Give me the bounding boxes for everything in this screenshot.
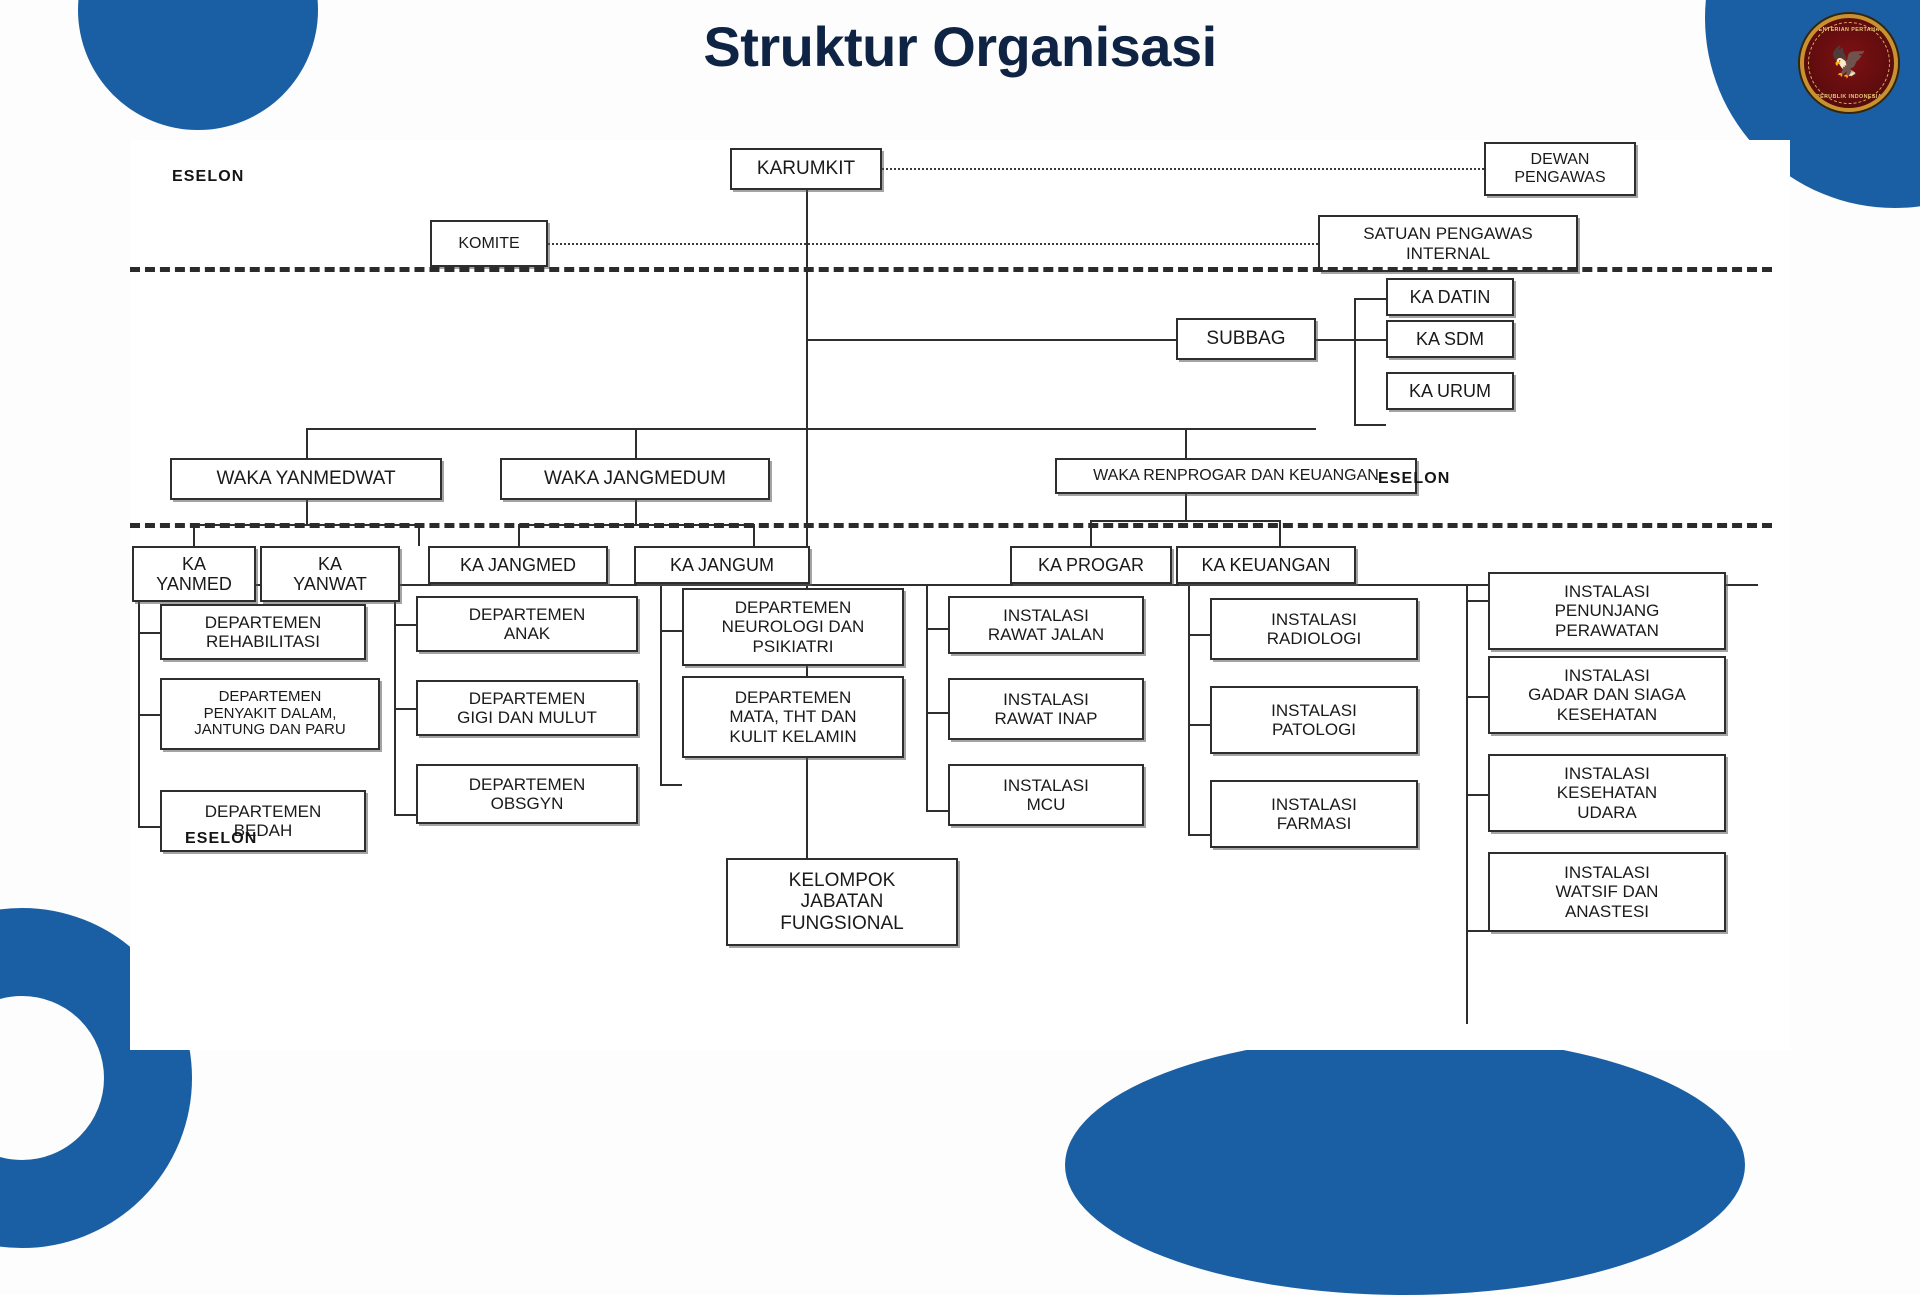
node-dep-mata-tht-kulit[interactable]: DEPARTEMEN MATA, THT DAN KULIT KELAMIN [682,676,904,758]
edge-trunk-to-subbag [806,339,1176,341]
ministry-seal-logo: KEMENTERIAN PERTAHANAN 🦅 REPUBLIK INDONE… [1800,14,1898,112]
edge-col4-item2 [926,712,948,714]
node-dep-penyakit-dalam[interactable]: DEPARTEMEN PENYAKIT DALAM, JANTUNG DAN P… [160,678,380,750]
node-dep-obsgyn[interactable]: DEPARTEMEN OBSGYN [416,764,638,824]
edge-subbag-urum [1354,424,1386,426]
edge-col1-item2 [138,714,160,716]
edge-jangmedum-down [635,500,637,524]
column-spine-rehabilitasi [138,584,140,826]
edge-col6-item4 [1466,930,1488,932]
seal-bottom-text: REPUBLIK INDONESIA [1804,94,1894,100]
node-komite[interactable]: KOMITE [430,220,548,267]
edge-bus-yanmedwat [306,428,308,458]
node-ka-jangmed[interactable]: KA JANGMED [428,546,608,584]
edge-col2-item3 [394,814,416,816]
waka-bus-horizontal [306,428,1316,430]
node-waka-renprogar[interactable]: WAKA RENPROGAR DAN KEUANGAN [1055,458,1417,494]
node-waka-yanmedwat[interactable]: WAKA YANMEDWAT [170,458,442,500]
node-instalasi-mcu[interactable]: INSTALASI MCU [948,764,1144,826]
org-chart-canvas: ESELON ESELON ESELON KARUMKIT DEWAN PENG… [130,140,1790,1050]
column-spine-rawat [926,584,928,810]
eselon-label-bottom: ESELON [185,830,257,848]
column-spine-penunjang-lain [1466,584,1468,1024]
edge-subbag-stub [1316,339,1354,341]
edge-karumkit-dewan [882,168,1484,170]
node-kelompok-jabatan-fungsional[interactable]: KELOMPOK JABATAN FUNGSIONAL [726,858,958,946]
node-instalasi-patologi[interactable]: INSTALASI PATOLOGI [1210,686,1418,754]
node-instalasi-penunjang-perawatan[interactable]: INSTALASI PENUNJANG PERAWATAN [1488,572,1726,650]
edge-renprogar-split [1090,520,1280,522]
edge-col4-item3 [926,810,948,812]
node-ka-jangum[interactable]: KA JANGUM [634,546,810,584]
node-ka-progar[interactable]: KA PROGAR [1010,546,1172,584]
edge-col3-item2 [660,784,682,786]
node-ka-keuangan[interactable]: KA KEUANGAN [1176,546,1356,584]
node-instalasi-gadar-siaga[interactable]: INSTALASI GADAR DAN SIAGA KESEHATAN [1488,656,1726,734]
column-spine-neurologi [660,584,662,784]
node-dep-gigi-dan-mulut[interactable]: DEPARTEMEN GIGI DAN MULUT [416,680,638,736]
edge-col5-item1 [1188,634,1210,636]
eselon-label-top: ESELON [172,168,244,186]
edge-renprogar-down [1185,494,1187,520]
edge-komite-spi [548,243,1318,245]
node-ka-yanmed[interactable]: KA YANMED [132,546,256,602]
edge-col6-item2 [1466,696,1488,698]
node-dep-anak[interactable]: DEPARTEMEN ANAK [416,596,638,652]
decorative-ellipse-bottom [1065,1035,1745,1295]
edge-col5-item3 [1188,834,1210,836]
node-dep-rehabilitasi[interactable]: DEPARTEMEN REHABILITASI [160,604,366,660]
edge-col2-item2 [394,708,416,710]
column-spine-anak [394,584,396,814]
edge-col4-item1 [926,628,948,630]
eselon-separator-2 [130,523,1772,528]
edge-subbag-datin [1354,298,1386,300]
node-instalasi-radiologi[interactable]: INSTALASI RADIOLOGI [1210,598,1418,660]
edge-col2-item1 [394,624,416,626]
column-spine-penunjang-medis [1188,584,1190,834]
edge-subbag-sdm [1354,339,1386,341]
edge-col1-item1 [138,632,160,634]
node-instalasi-watsif-anastesi[interactable]: INSTALASI WATSIF DAN ANASTESI [1488,852,1726,932]
edge-col1-item3 [138,826,160,828]
edge-subbag-spine [1354,298,1356,424]
page-title: Struktur Organisasi [0,14,1920,79]
node-ka-datin[interactable]: KA DATIN [1386,278,1514,316]
edge-yanmedwat-down [306,500,308,524]
node-satuan-pengawas-internal[interactable]: SATUAN PENGAWAS INTERNAL [1318,215,1578,272]
edge-col6-item1 [1466,600,1488,602]
node-subbag[interactable]: SUBBAG [1176,318,1316,360]
node-ka-yanwat[interactable]: KA YANWAT [260,546,400,602]
edge-bus-jangmedum [635,428,637,458]
edge-col3-item1 [660,630,682,632]
node-dep-neurologi-psikiatri[interactable]: DEPARTEMEN NEUROLOGI DAN PSIKIATRI [682,588,904,666]
eselon-separator-1 [130,267,1772,272]
node-instalasi-rawat-inap[interactable]: INSTALASI RAWAT INAP [948,678,1144,740]
garuda-emblem-icon: 🦅 [1830,48,1867,78]
node-waka-jangmedum[interactable]: WAKA JANGMEDUM [500,458,770,500]
edge-col6-item3 [1466,794,1488,796]
node-karumkit[interactable]: KARUMKIT [730,148,882,190]
seal-top-text: KEMENTERIAN PERTAHANAN [1804,27,1894,33]
node-instalasi-kesehatan-udara[interactable]: INSTALASI KESEHATAN UDARA [1488,754,1726,832]
node-instalasi-rawat-jalan[interactable]: INSTALASI RAWAT JALAN [948,596,1144,654]
node-ka-sdm[interactable]: KA SDM [1386,320,1514,358]
node-dewan-pengawas[interactable]: DEWAN PENGAWAS [1484,142,1636,196]
edge-col5-item2 [1188,724,1210,726]
edge-bus-renprogar [1185,428,1187,458]
node-instalasi-farmasi[interactable]: INSTALASI FARMASI [1210,780,1418,848]
eselon-label-middle: ESELON [1378,470,1450,488]
node-ka-urum[interactable]: KA URUM [1386,372,1514,410]
